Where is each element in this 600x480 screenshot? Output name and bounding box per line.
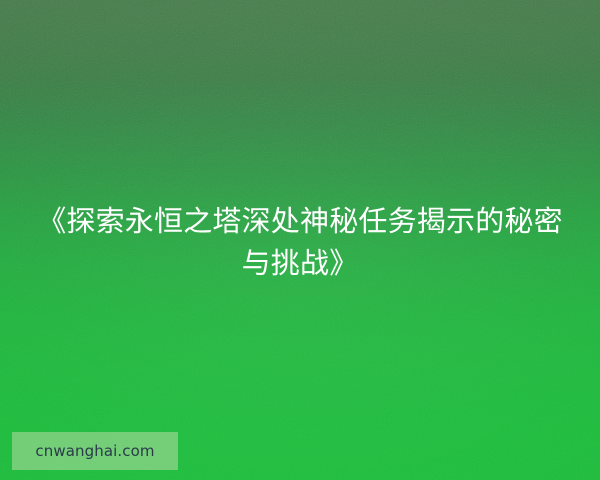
title-block: 《探索永恒之塔深处神秘任务揭示的秘密与挑战》 (0, 200, 600, 284)
watermark-label: cnwanghai.com (35, 444, 154, 459)
title-card-canvas: 《探索永恒之塔深处神秘任务揭示的秘密与挑战》 cnwanghai.com (0, 0, 600, 480)
watermark-badge: cnwanghai.com (12, 432, 178, 470)
page-title: 《探索永恒之塔深处神秘任务揭示的秘密与挑战》 (26, 200, 574, 284)
